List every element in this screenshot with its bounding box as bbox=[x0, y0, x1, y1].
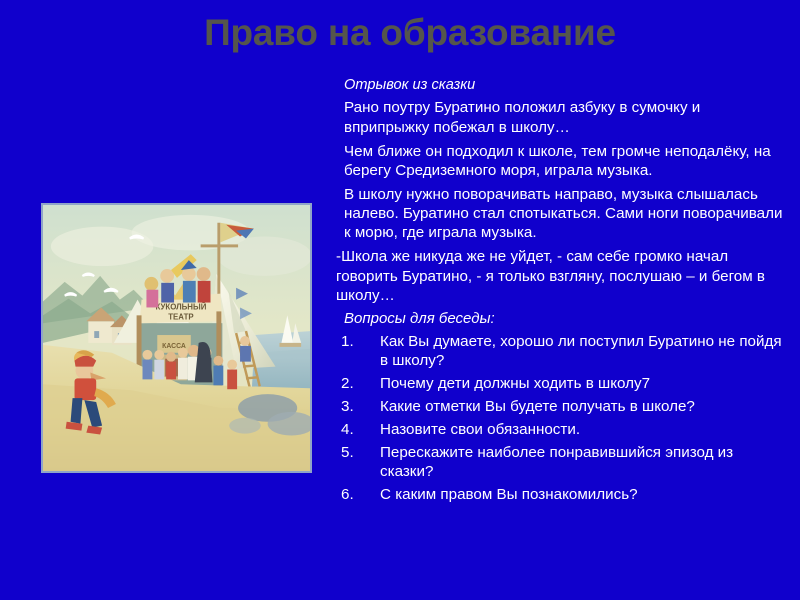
body-paragraph-3: В школу нужно поворачивать направо, музы… bbox=[336, 185, 788, 242]
list-item-number: 6. bbox=[341, 485, 369, 504]
illustration-artwork: КУКОЛЬНЫЙ ТЕАТР КАССА bbox=[43, 205, 310, 471]
intro-label: Отрывок из сказки bbox=[336, 76, 788, 94]
body-paragraph-1: Рано поутру Буратино положил азбуку в су… bbox=[336, 98, 788, 136]
list-item-text: С каким правом Вы познакомились? bbox=[380, 486, 638, 503]
page-title: Право на образование bbox=[120, 14, 700, 53]
list-item-text: Какие отметки Вы будете получать в школе… bbox=[380, 398, 695, 415]
list-item-text: Как Вы думаете, хорошо ли поступил Бурат… bbox=[380, 333, 782, 369]
list-item-text: Почему дети должны ходить в школу7 bbox=[380, 375, 650, 392]
body-paragraph-2: Чем ближе он подходил к школе, тем громч… bbox=[336, 142, 788, 180]
list-item-number: 1. bbox=[341, 332, 369, 351]
list-item: 2. Почему дети должны ходить в школу7 bbox=[336, 374, 788, 393]
list-item: 6. С каким правом Вы познакомились? bbox=[336, 485, 788, 504]
theatre-sign-text: КУКОЛЬНЫЙ bbox=[155, 302, 206, 311]
presentation-slide: Право на образование bbox=[0, 0, 800, 600]
dialogue-paragraph: -Школа же никуда же не уйдет, - сам себе… bbox=[336, 247, 788, 304]
list-item: 3. Какие отметки Вы будете получать в шк… bbox=[336, 397, 788, 416]
list-item-text: Назовите свои обязанности. bbox=[380, 421, 580, 438]
list-item: 5. Перескажите наиболее понравившийся эп… bbox=[336, 443, 788, 481]
list-item-number: 3. bbox=[341, 397, 369, 416]
list-item-text: Перескажите наиболее понравившийся эпизо… bbox=[380, 444, 733, 480]
list-item: 4. Назовите свои обязанности. bbox=[336, 420, 788, 439]
dialogue-text: Школа же никуда же не уйдет, - сам себе … bbox=[336, 248, 765, 303]
slide-body-text: Отрывок из сказки Рано поутру Буратино п… bbox=[336, 76, 788, 508]
list-item-number: 2. bbox=[341, 374, 369, 393]
theatre-sign-text-2: ТЕАТР bbox=[168, 312, 193, 321]
questions-heading: Вопросы для беседы: bbox=[336, 310, 788, 329]
list-item-number: 5. bbox=[341, 443, 369, 462]
list-item: 1. Как Вы думаете, хорошо ли поступил Бу… bbox=[336, 332, 788, 370]
questions-list: 1. Как Вы думаете, хорошо ли поступил Бу… bbox=[336, 332, 788, 504]
illustration-buratino-puppet-theatre: КУКОЛЬНЫЙ ТЕАТР КАССА bbox=[41, 203, 312, 473]
list-item-number: 4. bbox=[341, 420, 369, 439]
